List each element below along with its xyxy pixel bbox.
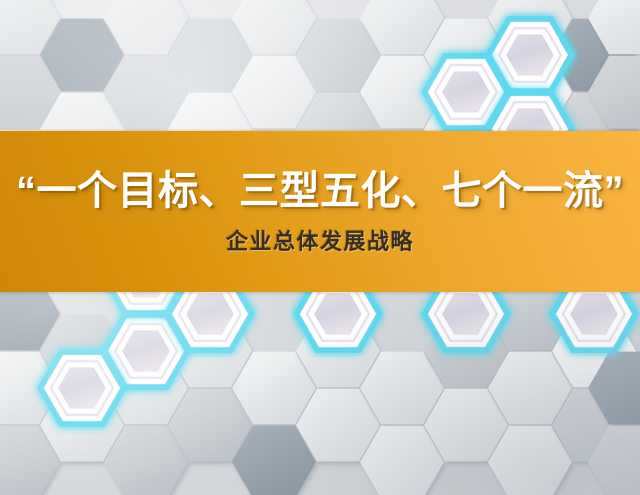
- hexagon-accent-glow: [40, 352, 124, 425]
- slide-subtitle: 企业总体发展战略: [226, 231, 414, 253]
- title-banner: “一个目标、三型五化、七个一流” 企业总体发展战略: [0, 131, 640, 292]
- slide-main-title: “一个目标、三型五化、七个一流”: [16, 171, 624, 211]
- slide-canvas: “一个目标、三型五化、七个一流” 企业总体发展战略: [0, 0, 640, 495]
